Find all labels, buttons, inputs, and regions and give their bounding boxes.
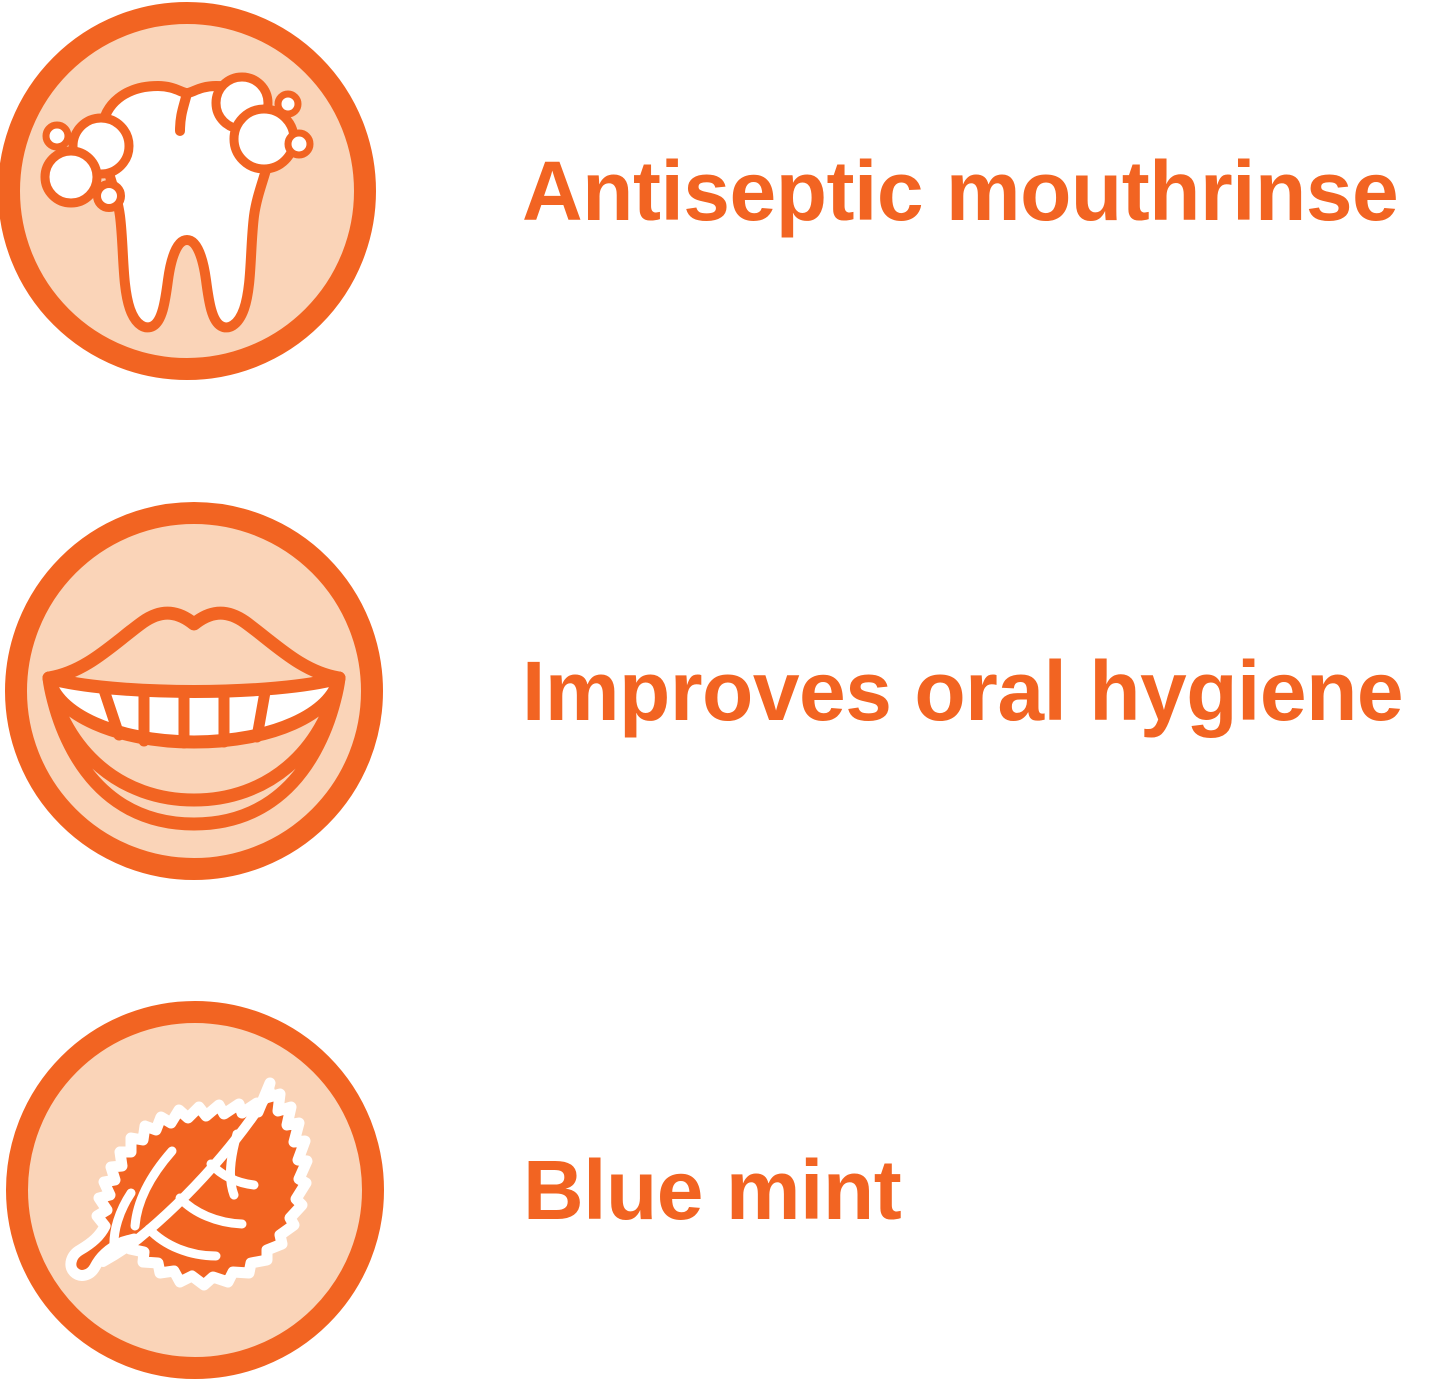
feature-label: Blue mint [523, 1148, 901, 1232]
feature-item-improves-oral-hygiene: Improves oral hygiene [0, 500, 1445, 882]
tooth-with-bubbles-icon [0, 0, 378, 382]
feature-label: Antiseptic mouthrinse [522, 149, 1398, 233]
mint-leaf-icon [4, 999, 386, 1381]
feature-item-blue-mint: Blue mint [0, 997, 1445, 1382]
feature-item-antiseptic-mouthrinse: Antiseptic mouthrinse [0, 0, 1445, 382]
feature-label: Improves oral hygiene [522, 649, 1403, 733]
feature-list: Antiseptic mouthrinse Improves oral hygi… [0, 0, 1445, 1382]
smiling-mouth-icon [3, 500, 385, 882]
